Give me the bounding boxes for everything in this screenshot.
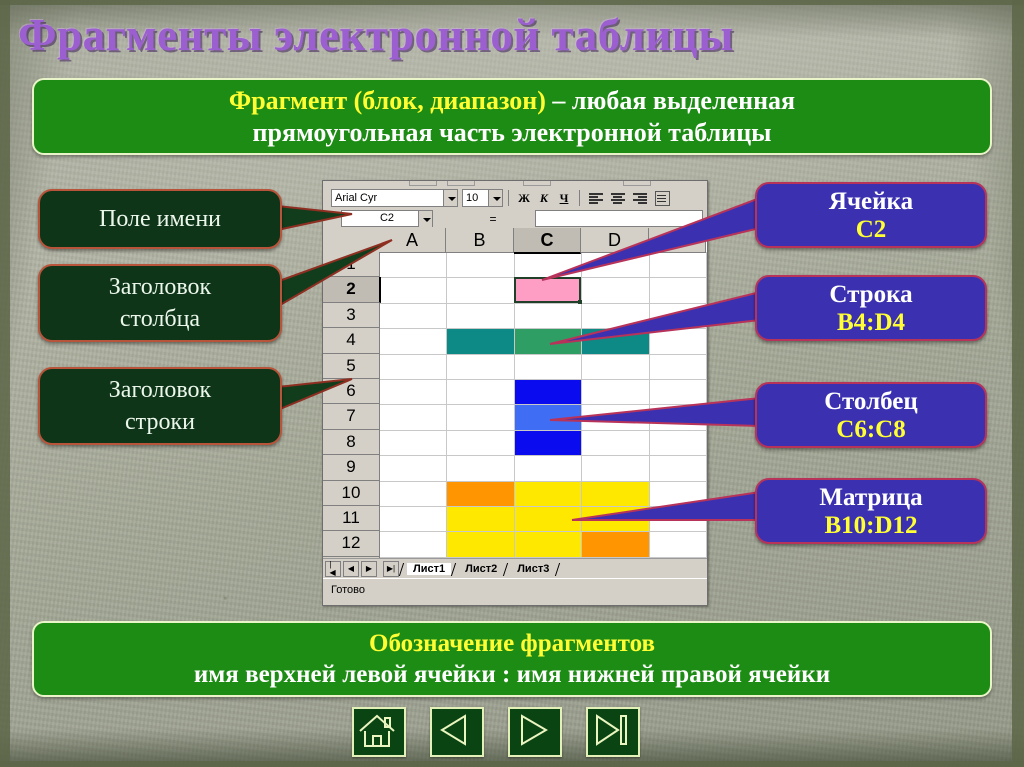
callout-column-header: Заголовок столбца: [38, 264, 282, 342]
callout-row: Строка B4:D4: [755, 275, 987, 341]
nav-home-button[interactable]: [352, 707, 406, 757]
nav-previous-button[interactable]: [430, 707, 484, 757]
callout-cell-title: Ячейка: [757, 184, 985, 216]
callout-name-box: Поле имени: [38, 189, 282, 249]
callout-row-header: Заголовок строки: [38, 367, 282, 445]
triangle-left-icon: [432, 709, 478, 751]
slide-navigation-bar[interactable]: [352, 707, 672, 755]
callout-column: Столбец C6:C8: [755, 382, 987, 448]
callout-row-header-line1: Заголовок: [109, 374, 211, 406]
skip-forward-icon: [588, 709, 634, 751]
callout-name-box-label: Поле имени: [99, 206, 221, 233]
arrow-to-row-B4D4: [550, 292, 760, 344]
callout-row-header-line2: строки: [109, 406, 211, 438]
arrow-to-col-C6C8: [550, 398, 760, 426]
nav-next-button[interactable]: [508, 707, 562, 757]
callout-cell-range: C2: [757, 216, 985, 244]
callout-column-header-line2: столбца: [109, 303, 211, 335]
callout-row-title: Строка: [757, 277, 985, 309]
callout-matrix: Матрица B10:D12: [755, 478, 987, 544]
nav-last-button[interactable]: [586, 707, 640, 757]
arrow-to-column-header: [268, 240, 392, 312]
callout-column-range: C6:C8: [757, 416, 985, 444]
callout-matrix-range: B10:D12: [757, 512, 985, 540]
callout-cell: Ячейка C2: [755, 182, 987, 248]
callout-row-range: B4:D4: [757, 309, 985, 337]
callout-column-title: Столбец: [757, 384, 985, 416]
home-icon: [354, 709, 400, 751]
arrow-to-cell-C2: [542, 198, 760, 280]
arrow-to-matrix: [572, 492, 760, 520]
triangle-right-icon: [510, 709, 556, 751]
callout-matrix-title: Матрица: [757, 480, 985, 512]
callout-column-header-line1: Заголовок: [109, 271, 211, 303]
